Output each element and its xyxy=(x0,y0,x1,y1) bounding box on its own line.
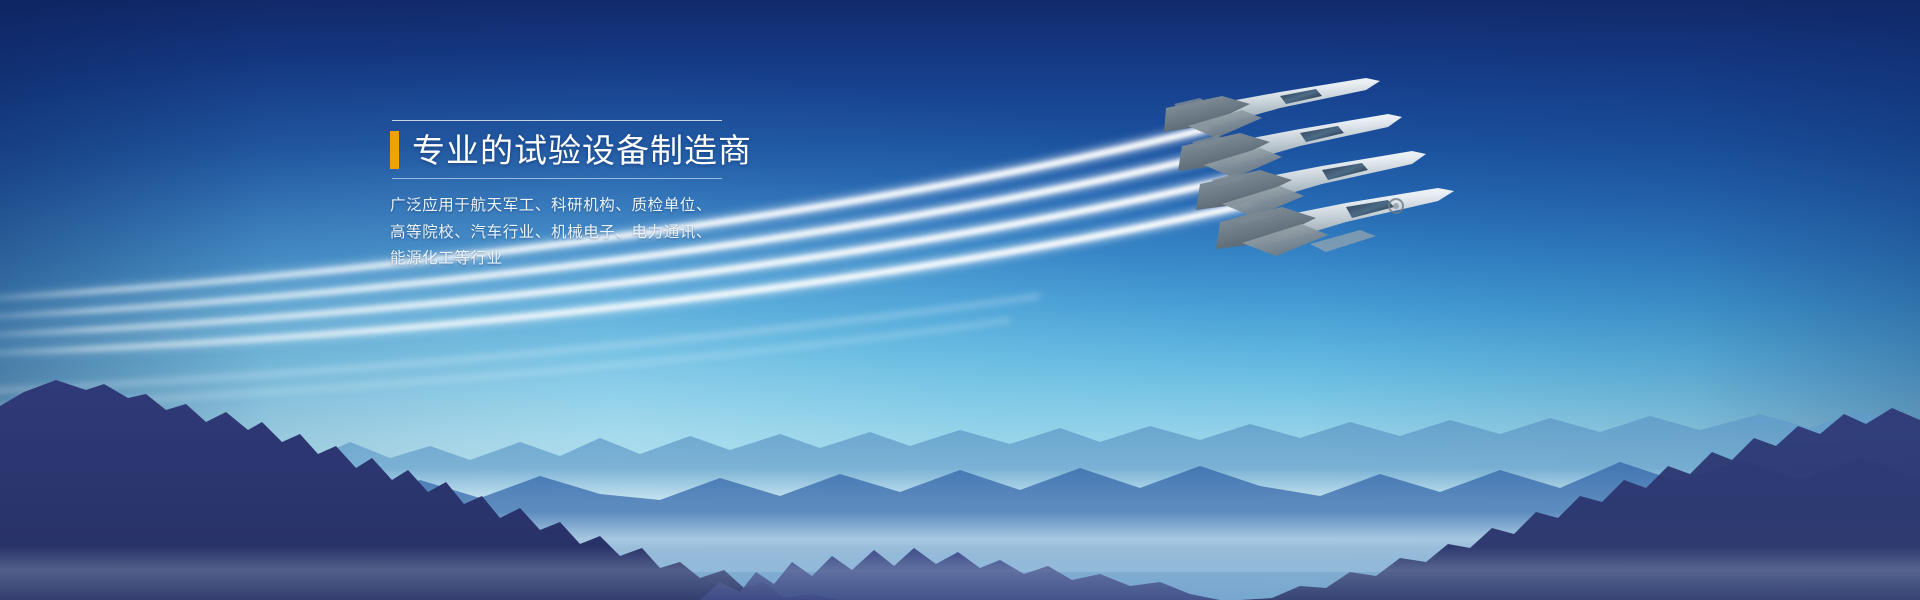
divider-top xyxy=(392,120,722,121)
hero-banner: 专业的试验设备制造商 广泛应用于航天军工、科研机构、质检单位、 高等院校、汽车行… xyxy=(0,0,1920,600)
subtitle-line-1: 广泛应用于航天军工、科研机构、质检单位、 xyxy=(390,192,750,219)
page-title: 专业的试验设备制造商 xyxy=(412,134,752,167)
subtitle-line-2: 高等院校、汽车行业、机械电子、电力通讯、 xyxy=(390,219,750,246)
sky-vignette xyxy=(0,0,1920,600)
subtitle-block: 广泛应用于航天军工、科研机构、质检单位、 高等院校、汽车行业、机械电子、电力通讯… xyxy=(390,192,750,272)
subtitle-line-3: 能源化工等行业 xyxy=(390,245,750,272)
hero-copy-block: 专业的试验设备制造商 广泛应用于航天军工、科研机构、质检单位、 高等院校、汽车行… xyxy=(390,120,750,272)
orange-accent-bar xyxy=(390,131,399,169)
title-row: 专业的试验设备制造商 xyxy=(390,131,750,169)
divider-bottom xyxy=(392,178,722,179)
